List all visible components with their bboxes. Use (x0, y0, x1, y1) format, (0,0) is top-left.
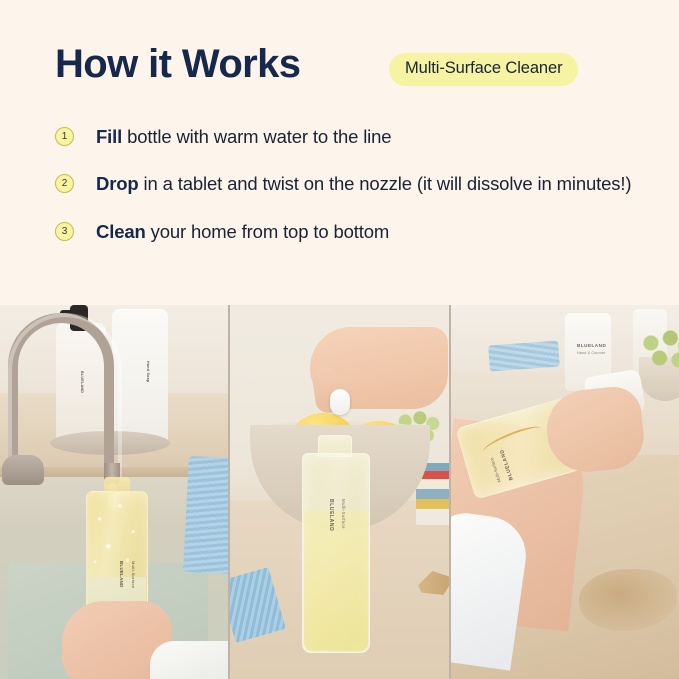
background-bottle-product-label: Hand Soap (146, 361, 150, 382)
grapes (639, 329, 679, 379)
photo-strip: BLUELAND Hand Soap BLUELAND Multi-Surfac… (0, 305, 679, 679)
background-bottle-brand-label: BLUELAND (577, 343, 606, 348)
step-detail: in a tablet and twist on the nozzle (it … (139, 173, 632, 194)
bottle-liquid (304, 511, 368, 651)
step-detail: your home from top to bottom (146, 221, 389, 242)
step-keyword: Clean (96, 221, 146, 242)
cleaning-tablet (330, 389, 350, 415)
bottle-brand-label: BLUELAND (119, 561, 124, 588)
bubbles-overlay (88, 493, 146, 579)
title-row: How it Works Multi-Surface Cleaner (55, 44, 655, 84)
page-title: How it Works (55, 44, 300, 84)
faucet-icon (8, 313, 114, 473)
sleeve (150, 641, 228, 679)
background-bottle-product-label: Hand & Counter (577, 351, 606, 355)
blue-towel (183, 456, 228, 574)
photo-spray-countertop: BLUELAND Hand & Counter BLUELAND Multi-S… (451, 305, 679, 679)
step-item: 2 Drop in a tablet and twist on the nozz… (55, 171, 655, 197)
step-keyword: Drop (96, 173, 139, 194)
step-item: 1 Fill bottle with warm water to the lin… (55, 124, 655, 150)
faucet-handle (2, 455, 44, 485)
instructions-section: How it Works Multi-Surface Cleaner 1 Fil… (0, 0, 679, 305)
product-badge: Multi-Surface Cleaner (389, 53, 578, 86)
step-number-badge: 2 (55, 174, 74, 193)
step-item: 3 Clean your home from top to bottom (55, 219, 655, 245)
photo-fill-bottle-at-faucet: BLUELAND Hand Soap BLUELAND Multi-Surfac… (0, 305, 228, 679)
bottle-brand-label: BLUELAND (328, 499, 334, 531)
step-text: Fill bottle with warm water to the line (96, 124, 655, 150)
step-number-badge: 1 (55, 127, 74, 146)
photo-drop-tablet-in-bottle: BLUELAND Multi-Surface (230, 305, 449, 679)
bottle-product-label: Multi-Surface (341, 499, 346, 529)
how-it-works-infographic: How it Works Multi-Surface Cleaner 1 Fil… (0, 0, 679, 679)
step-detail: bottle with warm water to the line (122, 126, 391, 147)
bottle-product-label: Multi-Surface (131, 561, 136, 588)
blue-cloth (488, 341, 560, 372)
step-keyword: Fill (96, 126, 122, 147)
step-text: Clean your home from top to bottom (96, 219, 655, 245)
step-text: Drop in a tablet and twist on the nozzle… (96, 171, 655, 197)
step-number-badge: 3 (55, 222, 74, 241)
steps-list: 1 Fill bottle with warm water to the lin… (55, 124, 655, 245)
